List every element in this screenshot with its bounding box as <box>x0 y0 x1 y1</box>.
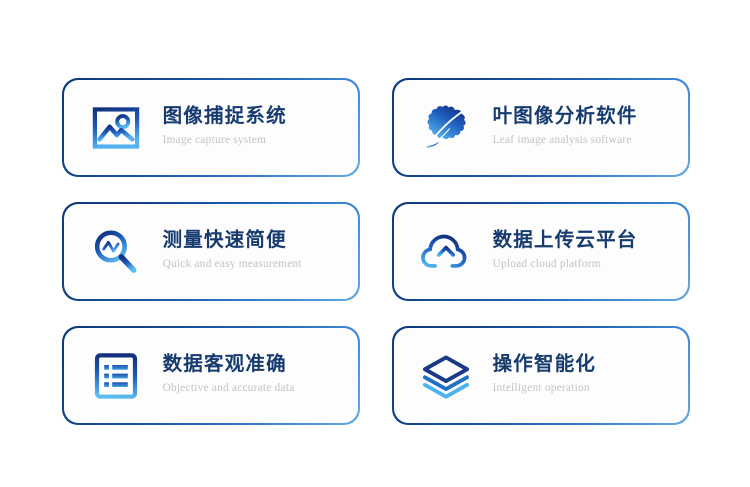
cloud-upload-icon <box>417 223 475 281</box>
feature-card-measurement[interactable]: 测量快速简便 Quick and easy measurement <box>62 202 360 301</box>
feature-card-image-capture[interactable]: 图像捕捉系统 Image capture system <box>62 78 360 177</box>
card-text: 数据上传云平台 Upload cloud platform <box>493 229 638 273</box>
feature-card-intelligent-operation[interactable]: 操作智能化 Intelligent operation <box>392 326 690 425</box>
card-title: 数据客观准确 <box>163 353 295 377</box>
card-title: 数据上传云平台 <box>493 229 638 253</box>
card-title: 叶图像分析软件 <box>493 105 638 129</box>
card-subtitle: Image capture system <box>163 134 287 148</box>
card-subtitle: Objective and accurate data <box>163 382 295 396</box>
card-subtitle: Upload cloud platform <box>493 258 638 272</box>
feature-card-cloud-upload[interactable]: 数据上传云平台 Upload cloud platform <box>392 202 690 301</box>
card-body: 操作智能化 Intelligent operation <box>394 328 689 424</box>
leaf-icon <box>417 99 475 157</box>
card-body: 数据客观准确 Objective and accurate data <box>64 328 359 424</box>
card-text: 叶图像分析软件 Leaf image analysis software <box>493 105 638 149</box>
card-text: 测量快速简便 Quick and easy measurement <box>163 229 302 273</box>
card-subtitle: Intelligent operation <box>493 382 597 396</box>
card-text: 操作智能化 Intelligent operation <box>493 353 597 397</box>
card-subtitle: Quick and easy measurement <box>163 258 302 272</box>
card-title: 图像捕捉系统 <box>163 105 287 129</box>
card-title: 测量快速简便 <box>163 229 302 253</box>
magnifier-measure-icon <box>87 223 145 281</box>
layers-icon <box>417 347 475 405</box>
card-body: 数据上传云平台 Upload cloud platform <box>394 204 689 300</box>
image-capture-icon <box>87 99 145 157</box>
card-title: 操作智能化 <box>493 353 597 377</box>
card-body: 叶图像分析软件 Leaf image analysis software <box>394 80 689 176</box>
card-body: 测量快速简便 Quick and easy measurement <box>64 204 359 300</box>
feature-card-leaf-analysis[interactable]: 叶图像分析软件 Leaf image analysis software <box>392 78 690 177</box>
card-text: 图像捕捉系统 Image capture system <box>163 105 287 149</box>
card-body: 图像捕捉系统 Image capture system <box>64 80 359 176</box>
list-data-icon <box>87 347 145 405</box>
card-subtitle: Leaf image analysis software <box>493 134 638 148</box>
feature-card-objective-data[interactable]: 数据客观准确 Objective and accurate data <box>62 326 360 425</box>
feature-card-grid: 图像捕捉系统 Image capture system <box>62 78 690 425</box>
card-text: 数据客观准确 Objective and accurate data <box>163 353 295 397</box>
